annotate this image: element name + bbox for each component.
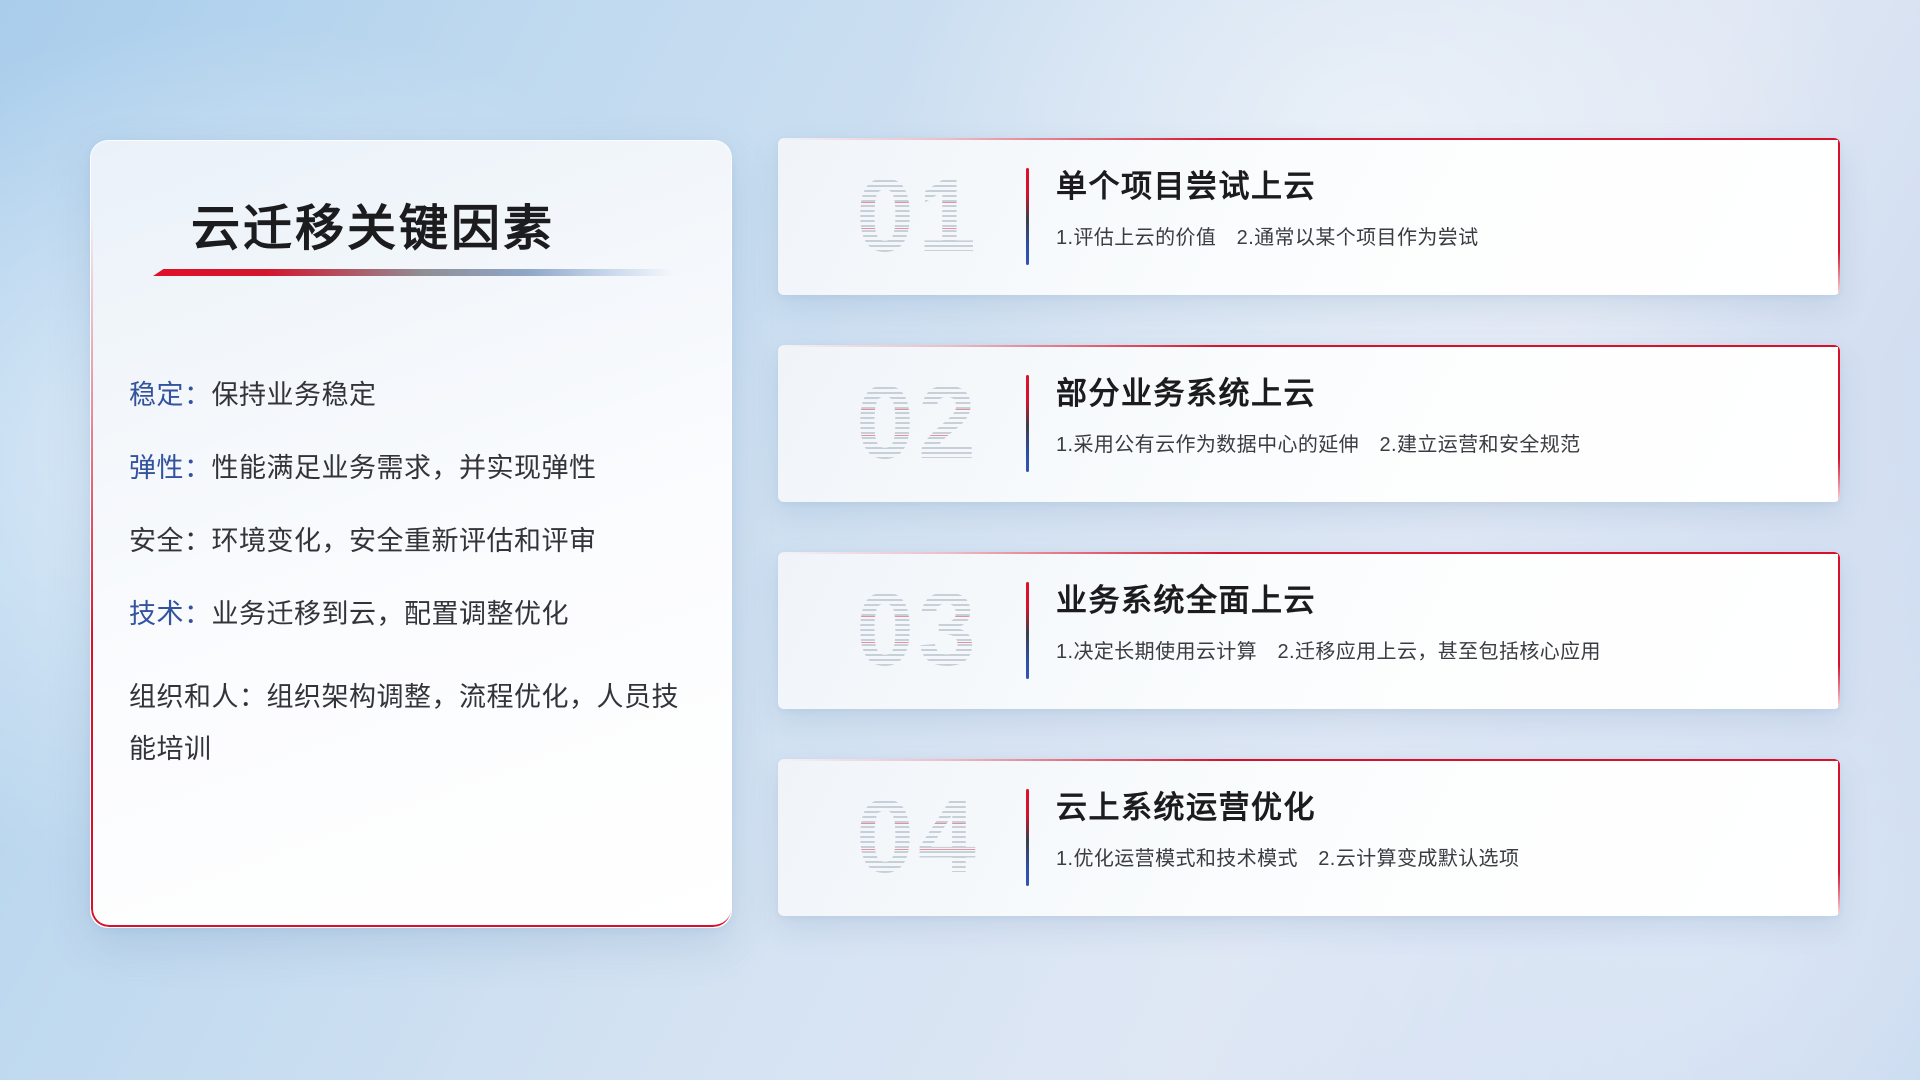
list-item: 安全：环境变化，安全重新评估和评审	[129, 525, 705, 558]
factor-label: 技术：	[129, 599, 212, 629]
key-factors-list: 稳定：保持业务稳定 弹性：性能满足业务需求，并实现弹性 安全：环境变化，安全重新…	[129, 379, 705, 816]
step-description: 1.评估上云的价值 2.通常以某个项目作为尝试	[1056, 221, 1816, 250]
factor-text: 环境变化，安全重新评估和评审	[212, 526, 597, 556]
factor-text: 性能满足业务需求，并实现弹性	[212, 453, 597, 483]
step-card-02[interactable]: 02 02 部分业务系统上云 1.采用公有云作为数据中心的延伸 2.建立运营和安…	[778, 345, 1840, 502]
step-accent-bar	[1026, 168, 1029, 265]
list-item: 技术：业务迁移到云，配置调整优化	[129, 598, 705, 631]
step-body: 单个项目尝试上云 1.评估上云的价值 2.通常以某个项目作为尝试	[1056, 168, 1816, 250]
list-item: 弹性：性能满足业务需求，并实现弹性	[129, 452, 705, 485]
step-title: 部分业务系统上云	[1056, 375, 1816, 414]
step-accent-bar	[1026, 789, 1029, 886]
title-underline-rule	[153, 269, 673, 276]
step-body: 部分业务系统上云 1.采用公有云作为数据中心的延伸 2.建立运营和安全规范	[1056, 375, 1816, 457]
step-number-tint-overlay: 02	[820, 357, 1016, 489]
step-number-tint-overlay: 01	[820, 150, 1016, 282]
slide-canvas: 云迁移关键因素 稳定：保持业务稳定 弹性：性能满足业务需求，并实现弹性 安全：环…	[0, 0, 1920, 1080]
step-accent-bar	[1026, 375, 1029, 472]
factor-text: 业务迁移到云，配置调整优化	[212, 599, 570, 629]
step-card-01[interactable]: 01 01 单个项目尝试上云 1.评估上云的价值 2.通常以某个项目作为尝试	[778, 138, 1840, 295]
factor-label: 组织和人：	[129, 682, 267, 712]
step-title: 云上系统运营优化	[1056, 789, 1816, 828]
factor-label: 安全：	[129, 526, 212, 556]
factor-label: 稳定：	[129, 380, 212, 410]
key-factors-card: 云迁移关键因素 稳定：保持业务稳定 弹性：性能满足业务需求，并实现弹性 安全：环…	[90, 140, 732, 928]
step-number-tint-overlay: 04	[820, 771, 1016, 903]
step-title: 单个项目尝试上云	[1056, 168, 1816, 207]
list-item: 组织和人：组织架构调整，流程优化，人员技能培训	[129, 671, 705, 776]
step-description: 1.决定长期使用云计算 2.迁移应用上云，甚至包括核心应用	[1056, 635, 1816, 664]
factor-label: 弹性：	[129, 453, 212, 483]
page-title: 云迁移关键因素	[191, 189, 555, 260]
step-card-03[interactable]: 03 03 业务系统全面上云 1.决定长期使用云计算 2.迁移应用上云，甚至包括…	[778, 552, 1840, 709]
step-card-04[interactable]: 04 04 云上系统运营优化 1.优化运营模式和技术模式 2.云计算变成默认选项	[778, 759, 1840, 916]
step-description: 1.优化运营模式和技术模式 2.云计算变成默认选项	[1056, 842, 1816, 871]
step-body: 业务系统全面上云 1.决定长期使用云计算 2.迁移应用上云，甚至包括核心应用	[1056, 582, 1816, 664]
step-accent-bar	[1026, 582, 1029, 679]
factor-text: 保持业务稳定	[212, 380, 377, 410]
step-description: 1.采用公有云作为数据中心的延伸 2.建立运营和安全规范	[1056, 428, 1816, 457]
step-body: 云上系统运营优化 1.优化运营模式和技术模式 2.云计算变成默认选项	[1056, 789, 1816, 871]
migration-steps-list: 01 01 单个项目尝试上云 1.评估上云的价值 2.通常以某个项目作为尝试 0…	[778, 138, 1840, 966]
step-number-tint-overlay: 03	[820, 564, 1016, 696]
step-title: 业务系统全面上云	[1056, 582, 1816, 621]
list-item: 稳定：保持业务稳定	[129, 379, 705, 412]
